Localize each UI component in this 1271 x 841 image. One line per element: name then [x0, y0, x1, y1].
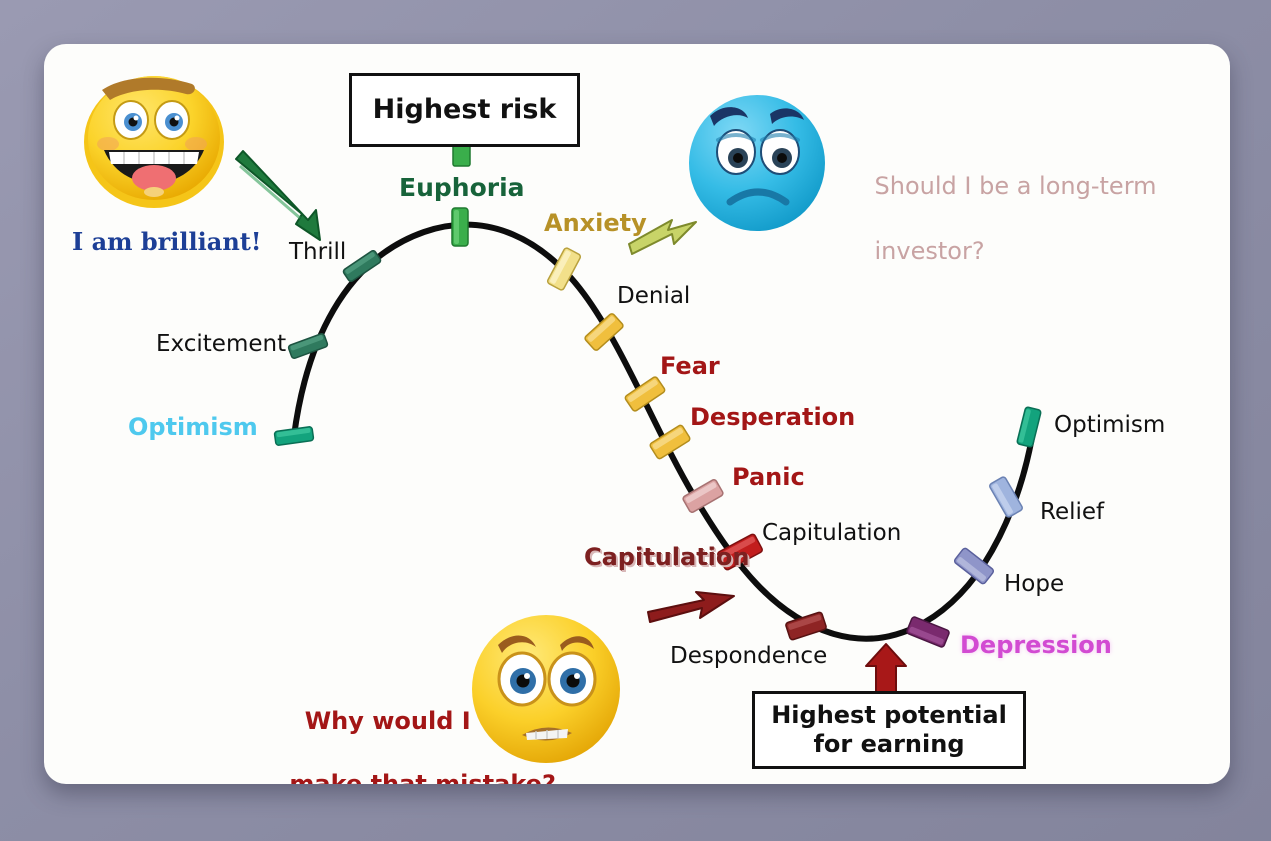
- sad-blue-face-emoji: [682, 90, 832, 235]
- emotion-label-panic: Panic: [732, 464, 805, 491]
- emotion-label-capitulation-emphasis: Capitulation: [584, 544, 749, 571]
- emotion-label-desperation: Desperation: [690, 404, 855, 431]
- emotion-label-thrill: Thrill: [289, 240, 346, 266]
- highest-risk-label: Highest risk: [373, 94, 557, 127]
- emotion-label-fear: Fear: [660, 353, 720, 380]
- red-up-arrow-icon: [866, 644, 906, 694]
- highest-risk-callout: Highest risk: [349, 73, 580, 147]
- emotion-label-euphoria: Euphoria: [399, 174, 525, 202]
- diagram-card: Highest risk Highest potential for earni…: [44, 44, 1230, 784]
- emotion-label-anxiety: Anxiety: [544, 210, 647, 237]
- emotion-label-depression: Depression: [960, 632, 1112, 659]
- happy-face-emoji: [74, 64, 234, 214]
- emotion-label-hope: Hope: [1004, 572, 1064, 598]
- darkred-arrow-icon: [648, 592, 734, 622]
- emotion-label-capitulation: Capitulation: [762, 521, 901, 547]
- shocked-face-emoji: [464, 609, 629, 769]
- emotion-label-optimism-right: Optimism: [1054, 413, 1165, 439]
- emotion-label-optimism-left: Optimism: [128, 414, 258, 441]
- speech-long-term-investor: Should I be a long-term investor?: [844, 138, 1184, 300]
- emotion-label-excitement: Excitement: [156, 332, 286, 358]
- emotion-label-despondence: Despondence: [670, 644, 827, 670]
- highest-potential-callout: Highest potential for earning: [752, 691, 1026, 769]
- speech-why-would-i-make-that-mistake: Why would I make that mistake?: [256, 675, 486, 784]
- emotion-label-denial: Denial: [617, 284, 690, 310]
- speech-i-am-brilliant: I am brilliant!: [72, 229, 261, 256]
- emotion-label-relief: Relief: [1040, 500, 1104, 526]
- highest-potential-label: Highest potential for earning: [771, 701, 1007, 760]
